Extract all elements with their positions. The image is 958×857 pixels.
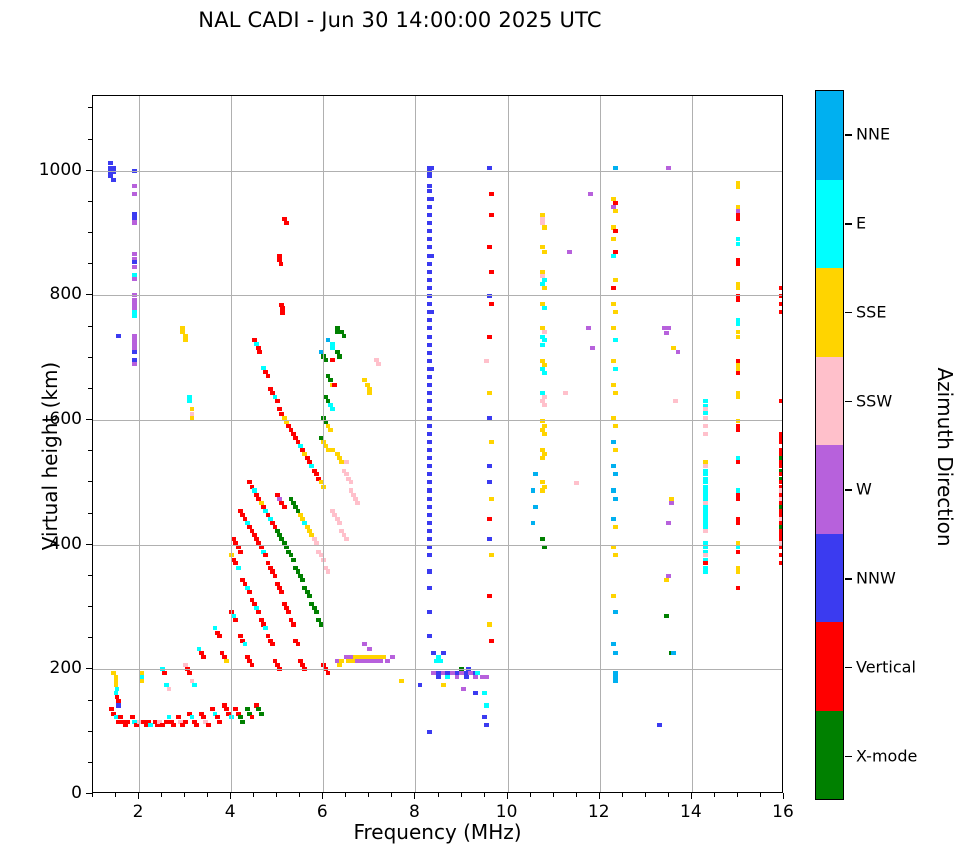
page-title: NAL CADI - Jun 30 14:00:00 2025 UTC (0, 8, 800, 32)
colorbar-tick (845, 312, 852, 313)
x-axis-tick-label: 14 (680, 802, 702, 822)
x-axis-tick (161, 793, 162, 797)
data-cell (256, 610, 261, 614)
colorbar-label-w: W (856, 480, 872, 499)
data-cell (542, 403, 547, 407)
data-cell (427, 464, 432, 468)
data-cell (586, 326, 591, 330)
data-cell (291, 622, 296, 626)
data-cell (183, 338, 188, 342)
data-cell (326, 569, 331, 573)
data-cell (427, 440, 432, 444)
data-cell (194, 723, 199, 727)
data-cell (542, 286, 547, 290)
gridline-vertical (139, 96, 140, 792)
x-axis-tick (760, 793, 761, 797)
x-axis-tick (414, 793, 415, 799)
data-cell (429, 367, 434, 371)
data-cell (284, 221, 289, 225)
data-cell (273, 574, 278, 578)
data-cell (427, 391, 432, 395)
data-cell (427, 569, 432, 573)
data-cell (280, 311, 285, 315)
data-cell (355, 501, 360, 505)
data-cell (611, 254, 616, 258)
data-cell (390, 655, 395, 659)
data-cell (779, 310, 783, 314)
data-cell (484, 723, 489, 727)
data-cell (279, 590, 284, 594)
y-axis-tick-label: 0 (2, 783, 82, 803)
data-cell (427, 529, 432, 533)
colorbar-tick (845, 489, 852, 490)
data-cell (484, 359, 489, 363)
data-cell (282, 505, 287, 509)
data-cell (703, 529, 708, 533)
data-cell (613, 209, 618, 213)
data-cell (613, 310, 618, 314)
data-cell (332, 383, 337, 387)
data-cell (427, 262, 432, 266)
data-cell (441, 651, 446, 655)
data-cell (611, 594, 616, 598)
gridline-horizontal (93, 171, 782, 172)
data-cell (427, 432, 432, 436)
data-cell (542, 371, 547, 375)
data-cell (427, 505, 432, 509)
data-cell (427, 399, 432, 403)
x-axis-tick (691, 793, 692, 799)
data-cell (482, 715, 487, 719)
data-cell (489, 192, 494, 196)
colorbar-segment-nne (816, 91, 843, 180)
data-cell (669, 501, 674, 505)
colorbar-label-vertical: Vertical (856, 657, 916, 676)
data-cell (427, 270, 432, 274)
data-cell (489, 270, 494, 274)
y-axis-tick (88, 263, 92, 264)
data-cell (427, 553, 432, 557)
gridline-vertical (692, 96, 693, 792)
data-cell (257, 350, 262, 354)
data-cell (201, 655, 206, 659)
data-cell (337, 521, 342, 525)
data-cell (326, 671, 331, 675)
data-cell (427, 245, 432, 249)
data-cell (427, 610, 432, 614)
data-cell (263, 626, 268, 630)
data-cell (671, 651, 676, 655)
colorbar-segment-ssw (816, 357, 843, 446)
data-cell (132, 192, 137, 196)
data-cell (429, 254, 434, 258)
x-axis-tick (530, 793, 531, 797)
y-axis-tick (88, 481, 92, 482)
data-cell (266, 374, 271, 378)
y-axis-tick (86, 170, 92, 171)
x-axis-tick (92, 793, 93, 797)
data-cell (427, 237, 432, 241)
data-cell (611, 545, 616, 549)
data-cell (487, 480, 492, 484)
data-cell (489, 302, 494, 306)
data-cell (167, 687, 172, 691)
data-cell (427, 730, 432, 734)
data-cell (779, 553, 783, 557)
colorbar-tick (845, 667, 852, 668)
data-cell (611, 464, 616, 468)
colorbar-tick (845, 578, 852, 579)
data-cell (111, 178, 116, 182)
y-axis-tick (88, 762, 92, 763)
data-cell (703, 569, 708, 573)
colorbar-label-sse: SSE (856, 302, 886, 321)
data-cell (339, 659, 344, 663)
data-cell (736, 395, 741, 399)
data-cell (736, 217, 741, 221)
data-cell (418, 683, 423, 687)
gridline-horizontal (93, 669, 782, 670)
data-cell (427, 326, 432, 330)
data-cell (427, 472, 432, 476)
x-axis-tick (391, 793, 392, 797)
gridline-vertical (231, 96, 232, 792)
data-cell (540, 537, 545, 541)
data-cell (344, 537, 349, 541)
data-cell (427, 545, 432, 549)
data-cell (217, 634, 222, 638)
data-cell (611, 488, 616, 492)
data-cell (250, 663, 255, 667)
data-cell (487, 622, 492, 626)
data-cell (427, 480, 432, 484)
data-cell (132, 350, 137, 354)
data-cell (736, 242, 741, 246)
data-cell (427, 318, 432, 322)
x-axis-tick-label: 4 (225, 802, 236, 822)
x-axis-tick-label: 12 (588, 802, 610, 822)
y-axis-tick (86, 294, 92, 295)
data-cell (427, 537, 432, 541)
data-cell (613, 651, 618, 655)
data-cell (736, 521, 741, 525)
data-cell (540, 488, 545, 492)
data-cell (162, 671, 167, 675)
data-cell (703, 424, 708, 428)
data-cell (427, 586, 432, 590)
x-axis-tick (299, 793, 300, 797)
data-cell (427, 407, 432, 411)
y-axis-tick (88, 107, 92, 108)
data-cell (378, 659, 383, 663)
data-cell (736, 322, 741, 326)
data-cell (590, 346, 595, 350)
data-cell (736, 586, 741, 590)
data-cell (337, 663, 342, 667)
data-cell (247, 590, 252, 594)
data-cell (171, 723, 176, 727)
data-cell (487, 594, 492, 598)
y-axis-tick (88, 201, 92, 202)
data-cell (613, 448, 618, 452)
data-cell (427, 456, 432, 460)
data-cell (427, 383, 432, 387)
data-cell (376, 362, 381, 366)
x-axis-tick-label: 10 (496, 802, 518, 822)
data-cell (263, 553, 268, 557)
colorbar-label-nnw: NNW (856, 569, 896, 588)
data-cell (233, 618, 238, 622)
data-cell (489, 440, 494, 444)
data-cell (611, 359, 616, 363)
data-cell (330, 407, 335, 411)
data-cell (314, 610, 319, 614)
data-cell (540, 343, 545, 347)
x-axis-tick (484, 793, 485, 797)
y-axis-tick (88, 450, 92, 451)
data-cell (533, 505, 538, 509)
y-axis-tick-label: 600 (2, 409, 82, 429)
data-cell (676, 350, 681, 354)
data-cell (779, 440, 783, 444)
colorbar-tick (845, 756, 852, 757)
x-axis-tick (645, 793, 646, 797)
data-cell (427, 286, 432, 290)
data-cell (736, 371, 741, 375)
data-cell (613, 166, 618, 170)
data-cell (613, 278, 618, 282)
y-axis-tick (88, 139, 92, 140)
gridline-horizontal (93, 295, 782, 296)
data-cell (183, 720, 188, 724)
data-cell (489, 213, 494, 217)
data-cell (132, 184, 137, 188)
data-cell (613, 424, 618, 428)
data-cell (542, 545, 547, 549)
colorbar-tick (845, 401, 852, 402)
data-cell (540, 456, 545, 460)
data-cell (736, 550, 741, 554)
data-cell (613, 367, 618, 371)
data-cell (664, 331, 669, 335)
azimuth-colorbar (815, 90, 844, 800)
data-cell (613, 679, 618, 683)
data-cell (337, 354, 342, 358)
data-cell (243, 642, 248, 646)
data-cell (427, 174, 432, 178)
data-cell (664, 614, 669, 618)
colorbar-label-ssw: SSW (856, 391, 892, 410)
data-cell (344, 460, 349, 464)
data-cell (148, 723, 153, 727)
data-cell (427, 221, 432, 225)
y-axis-tick-label: 1000 (2, 160, 82, 180)
colorbar-segment-e (816, 180, 843, 269)
data-cell (611, 326, 616, 330)
data-cell (132, 362, 137, 366)
data-cell (180, 723, 185, 727)
data-cell (427, 189, 432, 193)
data-cell (464, 675, 469, 679)
data-cell (192, 683, 197, 687)
data-cell (427, 359, 432, 363)
data-cell (429, 166, 434, 170)
data-cell (779, 286, 783, 290)
data-cell (613, 497, 618, 501)
data-cell (779, 561, 783, 565)
data-cell (489, 639, 494, 643)
x-axis-tick (230, 793, 231, 799)
data-cell (736, 298, 741, 302)
data-cell (132, 314, 137, 318)
x-axis-tick (783, 793, 784, 799)
data-cell (116, 703, 121, 707)
x-axis-tick (253, 793, 254, 797)
gridline-vertical (323, 96, 324, 792)
x-axis-tick (576, 793, 577, 797)
colorbar-segment-x-mode (816, 711, 843, 800)
y-axis-tick-label: 400 (2, 534, 82, 554)
y-axis-tick (88, 388, 92, 389)
data-cell (487, 416, 492, 420)
data-cell (482, 691, 487, 695)
data-cell (736, 286, 741, 290)
data-cell (250, 715, 255, 719)
data-cell (270, 642, 275, 646)
data-cell (279, 262, 284, 266)
data-cell (427, 488, 432, 492)
data-cell (736, 262, 741, 266)
data-cell (461, 687, 466, 691)
data-cell (307, 594, 312, 598)
data-cell (779, 399, 783, 403)
y-axis-tick (86, 793, 92, 794)
data-cell (217, 720, 222, 724)
data-cell (275, 399, 280, 403)
data-cell (427, 205, 432, 209)
x-axis-tick (138, 793, 139, 799)
data-cell (531, 521, 536, 525)
data-cell (567, 250, 572, 254)
colorbar-tick (845, 223, 852, 224)
y-axis-tick (88, 606, 92, 607)
data-cell (367, 391, 372, 395)
data-cell (190, 416, 195, 420)
data-cell (736, 428, 741, 432)
data-cell (487, 391, 492, 395)
gridline-vertical (508, 96, 509, 792)
data-cell (613, 338, 618, 342)
y-axis-tick (88, 326, 92, 327)
gridline-horizontal (93, 545, 782, 546)
colorbar-segment-nnw (816, 534, 843, 623)
data-cell (427, 375, 432, 379)
y-axis-tick (86, 419, 92, 420)
x-axis-tick-label: 2 (133, 802, 144, 822)
data-cell (427, 302, 432, 306)
data-cell (613, 553, 618, 557)
data-cell (542, 432, 547, 436)
data-cell (187, 671, 192, 675)
data-cell (489, 497, 494, 501)
y-axis-tick (88, 637, 92, 638)
data-cell (657, 723, 662, 727)
y-axis-tick (88, 357, 92, 358)
data-cell (736, 497, 741, 501)
data-cell (445, 675, 450, 679)
data-cell (427, 229, 432, 233)
y-axis-tick (88, 575, 92, 576)
data-cell (123, 723, 128, 727)
data-cell (455, 675, 460, 679)
x-axis-tick (622, 793, 623, 797)
data-cell (330, 358, 335, 362)
data-cell (473, 675, 478, 679)
data-cell (427, 521, 432, 525)
colorbar-label-e: E (856, 214, 866, 233)
data-cell (611, 302, 616, 306)
y-axis-tick (86, 544, 92, 545)
x-axis-label: Frequency (MHz) (92, 820, 783, 844)
data-cell (613, 229, 618, 233)
data-cell (487, 245, 492, 249)
data-cell (286, 610, 291, 614)
data-cell (664, 578, 669, 582)
data-cell (613, 525, 618, 529)
data-cell (574, 481, 579, 485)
x-axis-tick (322, 793, 323, 799)
data-cell (489, 553, 494, 557)
data-cell (484, 675, 489, 679)
y-axis-tick-label: 200 (2, 658, 82, 678)
x-axis-tick (115, 793, 116, 797)
gridline-vertical (415, 96, 416, 792)
y-axis-tick (88, 700, 92, 701)
y-axis-tick (88, 731, 92, 732)
data-cell (427, 424, 432, 428)
y-axis-label: Virtual height (km) (38, 306, 62, 606)
colorbar-title: Azimuth Direction (933, 307, 957, 607)
data-cell (487, 335, 492, 339)
data-cell (611, 237, 616, 241)
x-axis-tick (714, 793, 715, 797)
data-cell (296, 642, 301, 646)
data-cell (429, 310, 434, 314)
data-cell (613, 472, 618, 476)
data-cell (427, 448, 432, 452)
y-axis-tick-label: 800 (2, 284, 82, 304)
data-cell (611, 440, 616, 444)
data-cell (427, 213, 432, 217)
x-axis-tick (207, 793, 208, 797)
data-cell (703, 432, 708, 436)
data-cell (441, 683, 446, 687)
data-cell (328, 428, 333, 432)
data-cell (613, 610, 618, 614)
data-cell (349, 480, 354, 484)
data-cell (487, 464, 492, 468)
data-cell (160, 723, 165, 727)
data-cell (116, 334, 121, 338)
data-cell (613, 391, 618, 395)
data-cell (436, 675, 441, 679)
data-cell (673, 399, 678, 403)
data-cell (238, 550, 243, 554)
x-axis-tick (737, 793, 738, 797)
data-cell (487, 537, 492, 541)
data-cell (385, 659, 390, 663)
x-axis-tick (668, 793, 669, 797)
